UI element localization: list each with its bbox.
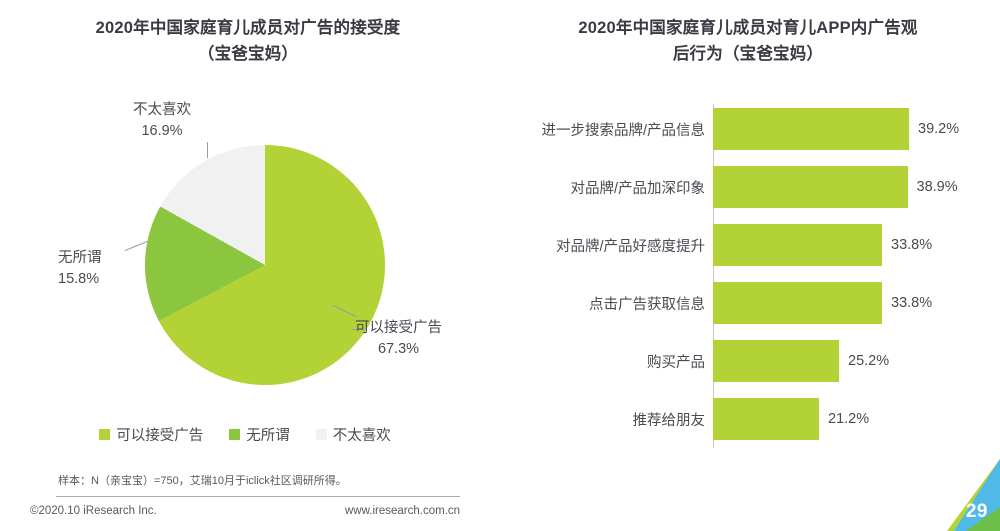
bar-category-label: 点击广告获取信息 xyxy=(520,293,713,314)
bar-row: 推荐给朋友21.2% xyxy=(520,390,975,448)
bar-value-label: 33.8% xyxy=(891,237,932,253)
bar-row: 对品牌/产品好感度提升33.8% xyxy=(520,216,975,274)
pie-leader-line-dislike xyxy=(207,142,208,158)
legend-swatch-icon-accept xyxy=(99,429,110,440)
bar-category-label: 对品牌/产品加深印象 xyxy=(520,177,713,198)
pie-legend-item-neutral: 无所谓 xyxy=(229,424,290,445)
bar-value-label: 38.9% xyxy=(917,179,958,195)
left-panel-title-line1: 2020年中国家庭育儿成员对广告的接受度 xyxy=(28,16,468,42)
bar-row: 点击广告获取信息33.8% xyxy=(520,274,975,332)
left-footer-divider xyxy=(56,496,460,497)
pie-label-neutral: 无所谓 15.8% xyxy=(58,248,102,290)
bar-category-label: 推荐给朋友 xyxy=(520,409,713,430)
slide-canvas: 2020年中国家庭育儿成员对广告的接受度 （宝爸宝妈） 不太喜欢 16.9% 无… xyxy=(0,0,1000,531)
pie-legend-item-accept: 可以接受广告 xyxy=(99,424,203,445)
bar-category-label: 进一步搜索品牌/产品信息 xyxy=(520,119,713,140)
right-panel-title: 2020年中国家庭育儿成员对育儿APP内广告观 后行为（宝爸宝妈） xyxy=(518,16,978,67)
pie-label-neutral-value: 15.8% xyxy=(58,269,102,290)
bar-fill xyxy=(713,398,819,440)
bar-fill xyxy=(713,340,839,382)
pie-label-accept: 可以接受广告 67.3% xyxy=(355,318,442,360)
right-chart-panel: 2020年中国家庭育儿成员对育儿APP内广告观 后行为（宝爸宝妈） 进一步搜索品… xyxy=(490,0,1000,531)
bar-value-label: 39.2% xyxy=(918,121,959,137)
pie-legend: 可以接受广告 无所谓 不太喜欢 xyxy=(0,424,490,445)
bar-row: 进一步搜索品牌/产品信息39.2% xyxy=(520,100,975,158)
bar-track: 33.8% xyxy=(713,216,975,274)
pie-label-dislike-value: 16.9% xyxy=(133,121,191,142)
right-panel-title-line2: 后行为（宝爸宝妈） xyxy=(518,42,978,68)
bar-fill xyxy=(713,166,908,208)
pie-label-accept-value: 67.3% xyxy=(355,339,442,360)
left-footnote: 样本：N（亲宝宝）=750，艾瑞10月于iclick社区调研所得。 xyxy=(58,472,347,488)
legend-swatch-icon-dislike xyxy=(316,429,327,440)
left-panel-title: 2020年中国家庭育儿成员对广告的接受度 （宝爸宝妈） xyxy=(28,16,468,67)
pie-slices xyxy=(145,145,385,385)
pie-legend-label-neutral: 无所谓 xyxy=(246,424,290,445)
bar-row: 对品牌/产品加深印象38.9% xyxy=(520,158,975,216)
bar-fill xyxy=(713,224,882,266)
pie-legend-item-dislike: 不太喜欢 xyxy=(316,424,391,445)
corner-decoration: 29 xyxy=(914,459,1000,531)
pie-label-accept-name: 可以接受广告 xyxy=(355,320,442,336)
pie-legend-label-dislike: 不太喜欢 xyxy=(333,424,391,445)
page-number: 29 xyxy=(966,501,988,523)
pie-label-dislike: 不太喜欢 16.9% xyxy=(133,100,191,142)
bar-chart: 进一步搜索品牌/产品信息39.2%对品牌/产品加深印象38.9%对品牌/产品好感… xyxy=(520,100,975,450)
bar-value-label: 33.8% xyxy=(891,295,932,311)
left-chart-panel: 2020年中国家庭育儿成员对广告的接受度 （宝爸宝妈） 不太喜欢 16.9% 无… xyxy=(0,0,490,531)
pie-label-neutral-name: 无所谓 xyxy=(58,250,102,266)
left-website: www.iresearch.com.cn xyxy=(345,505,460,517)
pie-legend-label-accept: 可以接受广告 xyxy=(116,424,203,445)
bar-track: 38.9% xyxy=(713,158,975,216)
right-panel-title-line1: 2020年中国家庭育儿成员对育儿APP内广告观 xyxy=(518,16,978,42)
bar-row: 购买产品25.2% xyxy=(520,332,975,390)
left-copyright: ©2020.10 iResearch Inc. xyxy=(30,505,157,517)
bar-category-label: 购买产品 xyxy=(520,351,713,372)
bar-category-label: 对品牌/产品好感度提升 xyxy=(520,235,713,256)
left-panel-title-line2: （宝爸宝妈） xyxy=(28,42,468,68)
bar-value-label: 25.2% xyxy=(848,353,889,369)
bar-track: 33.8% xyxy=(713,274,975,332)
legend-swatch-icon-neutral xyxy=(229,429,240,440)
bar-track: 21.2% xyxy=(713,390,975,448)
bar-value-label: 21.2% xyxy=(828,411,869,427)
bar-fill xyxy=(713,282,882,324)
bar-track: 25.2% xyxy=(713,332,975,390)
bar-fill xyxy=(713,108,909,150)
pie-label-dislike-name: 不太喜欢 xyxy=(133,102,191,118)
pie-chart xyxy=(145,145,385,385)
bar-track: 39.2% xyxy=(713,100,975,158)
